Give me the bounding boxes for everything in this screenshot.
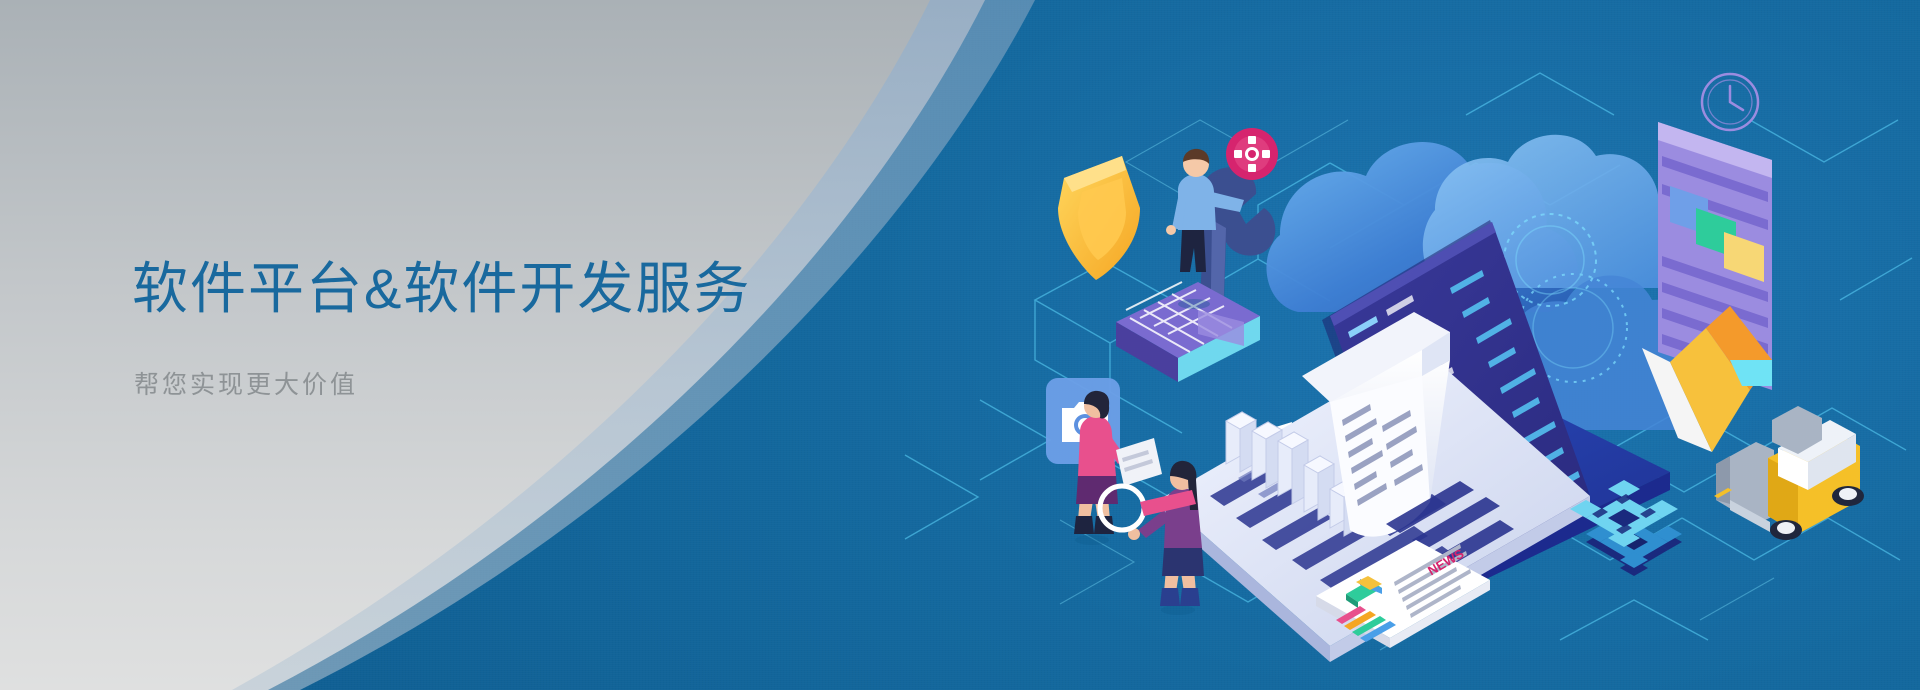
clock-icon: [1702, 74, 1758, 130]
isometric-illustration: NEWS: [1030, 60, 1920, 680]
forklift-icon: [1714, 406, 1864, 540]
headline-block: 软件平台&软件开发服务 帮您实现更大价值: [132, 258, 892, 401]
page-title: 软件平台&软件开发服务: [132, 258, 892, 321]
hero-banner: 软件平台&软件开发服务 帮您实现更大价值: [0, 0, 1920, 690]
page-subtitle: 帮您实现更大价值: [134, 365, 892, 401]
solar-panel-icon: [1116, 282, 1260, 382]
shield-icon: [1058, 156, 1140, 280]
gear-badge-icon: [1226, 128, 1278, 180]
